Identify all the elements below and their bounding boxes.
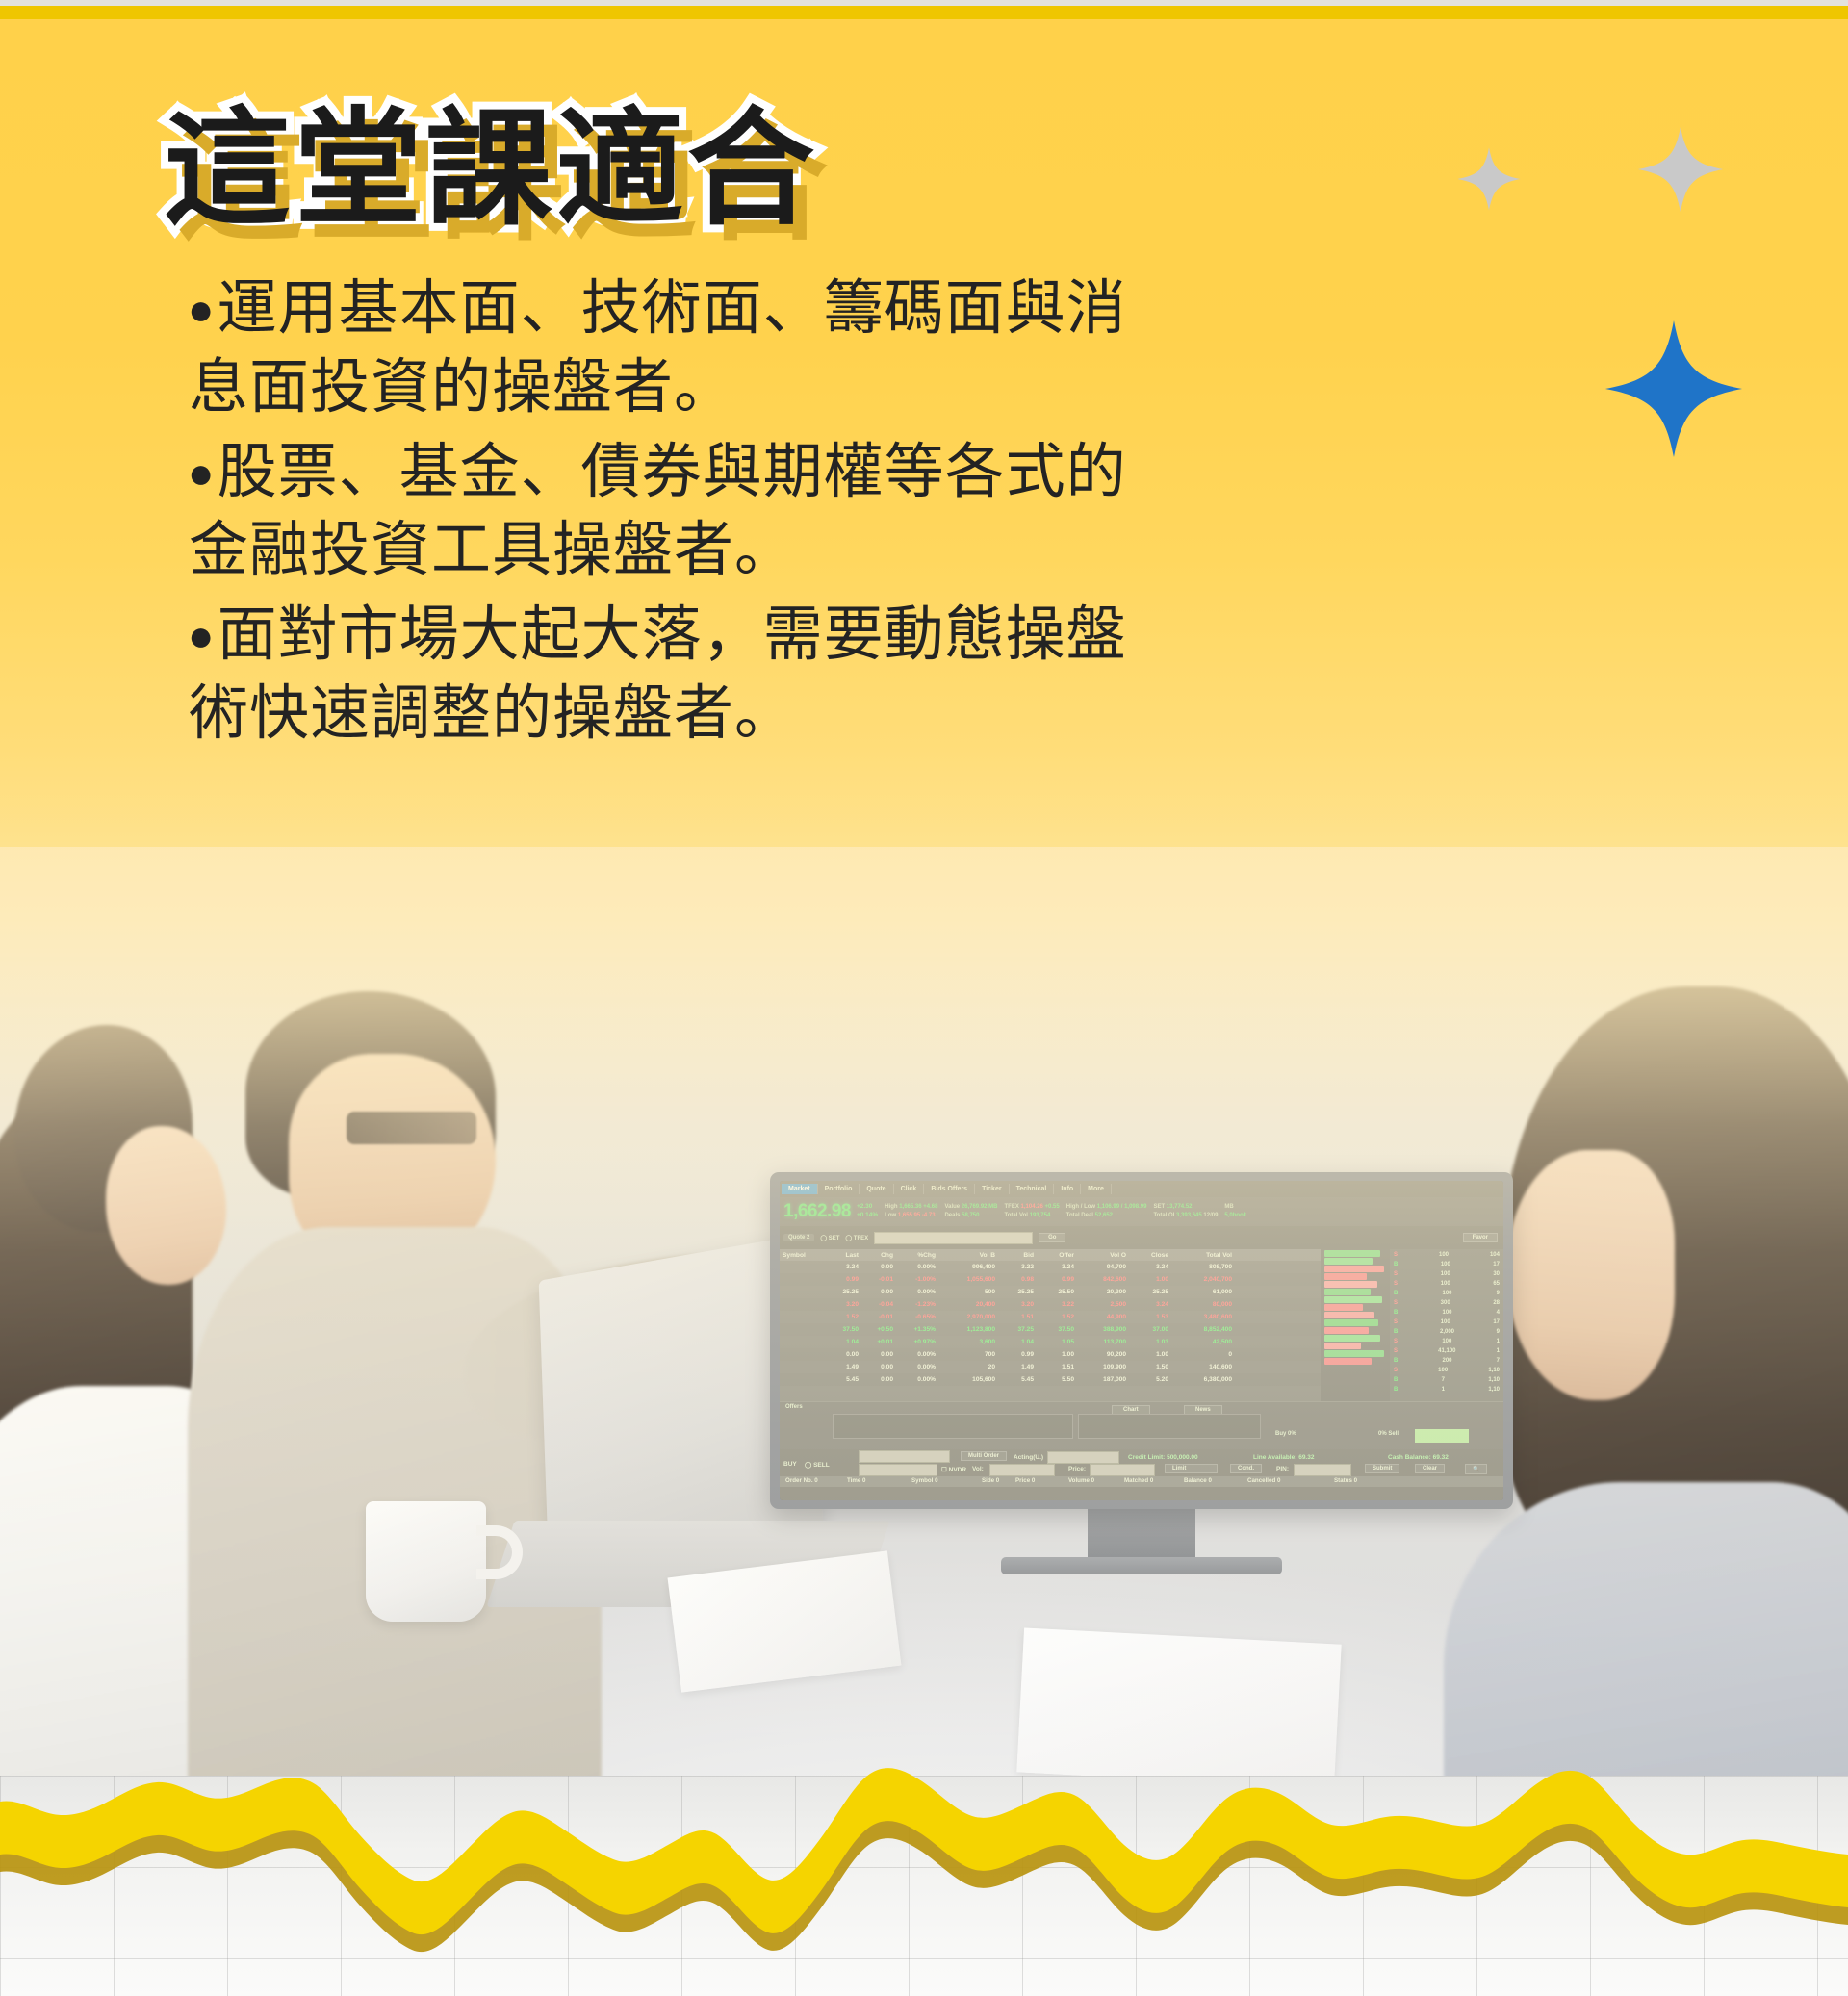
- list-item[interactable]: B71,10: [1390, 1375, 1503, 1385]
- person-right-face: [1506, 1150, 1675, 1400]
- cell-chg: 0.00: [862, 1364, 897, 1370]
- buy-label[interactable]: BUY: [783, 1461, 797, 1468]
- star-gray-small-icon: [1456, 146, 1522, 212]
- list-item[interactable]: S1001,10: [1390, 1366, 1503, 1375]
- list-item[interactable]: S10065: [1390, 1279, 1503, 1289]
- cell-offer: 5.50: [1038, 1376, 1078, 1383]
- cell-vol-offer: 187,000: [1078, 1376, 1130, 1383]
- list-item[interactable]: S41,1001: [1390, 1346, 1503, 1356]
- cell-last: 1.49: [824, 1364, 862, 1370]
- clear-button[interactable]: Clear: [1415, 1464, 1445, 1473]
- pin-label: PIN:: [1276, 1466, 1289, 1472]
- cell-close: 3.24: [1130, 1264, 1172, 1270]
- order-side: B: [1394, 1329, 1398, 1335]
- cell-vol-bid: 20,400: [939, 1301, 999, 1308]
- order-side: B: [1394, 1387, 1398, 1393]
- col-close[interactable]: Close: [1130, 1252, 1172, 1259]
- cell-chg: +0.01: [862, 1339, 897, 1345]
- order-price: 28: [1493, 1300, 1500, 1306]
- cell-total-vol: 6,380,000: [1172, 1376, 1236, 1383]
- cell-vol-offer: 94,700: [1078, 1264, 1130, 1270]
- stat-mb: MB 5,0book: [1224, 1203, 1246, 1219]
- cell-total-vol: 2,040,700: [1172, 1276, 1236, 1283]
- list-item[interactable]: B2007: [1390, 1356, 1503, 1366]
- page-title: 這堂課適合: [164, 101, 818, 239]
- cell-offer: 1.52: [1038, 1314, 1078, 1320]
- cell-bid: 3.20: [999, 1301, 1038, 1308]
- cell-chg: 0.00: [862, 1264, 897, 1270]
- col-last[interactable]: Last: [824, 1252, 862, 1259]
- list-item[interactable]: B2,0009: [1390, 1327, 1503, 1337]
- bullet-dot-icon: ●: [188, 610, 216, 660]
- cell-total-vol: 80,000: [1172, 1301, 1236, 1308]
- sell-label[interactable]: ◯ SELL: [805, 1461, 830, 1469]
- cell-pct-chg: +0.97%: [897, 1339, 939, 1345]
- order-price: 7: [1497, 1358, 1500, 1364]
- cell-pct-chg: +1.35%: [897, 1326, 939, 1333]
- stat-set-label: SET: [1153, 1204, 1165, 1210]
- list-item[interactable]: S30028: [1390, 1298, 1503, 1308]
- table-row[interactable]: 1.490.000.00%201.491.51109,9001.50140,60…: [780, 1361, 1321, 1373]
- cell-offer: 3.24: [1038, 1264, 1078, 1270]
- col-total-vol[interactable]: Total Vol: [1172, 1252, 1236, 1259]
- cell-vol-bid: 996,400: [939, 1264, 999, 1270]
- index-change: +2.30: [857, 1203, 878, 1212]
- order-price: 9: [1497, 1329, 1500, 1335]
- trading-terminal: Market Portfolio Quote Click Bids Offers…: [780, 1181, 1503, 1500]
- cell-vol-bid: 20: [939, 1364, 999, 1370]
- order-vol: 100: [1442, 1310, 1451, 1316]
- table-row[interactable]: 25.250.000.00%50025.2525.5020,30025.2561…: [780, 1286, 1321, 1298]
- col-time[interactable]: Time 0: [847, 1477, 866, 1484]
- table-row[interactable]: 37.50+0.50+1.35%1,123,80037.2537.50388,9…: [780, 1323, 1321, 1336]
- market-depth-panel: [1321, 1249, 1390, 1401]
- cell-vol-offer: 44,900: [1078, 1314, 1130, 1320]
- tab-quote[interactable]: Quote: [860, 1184, 893, 1194]
- tab-click[interactable]: Click: [894, 1184, 925, 1194]
- order-price: 104: [1490, 1252, 1500, 1258]
- cell-vol-offer: 2,500: [1078, 1301, 1130, 1308]
- order-vol: 100: [1438, 1368, 1448, 1373]
- col-chg[interactable]: Chg: [862, 1252, 897, 1259]
- cell-chg: -0.01: [862, 1276, 897, 1283]
- cell-total-vol: 8,852,400: [1172, 1326, 1236, 1333]
- cell-close: 1.50: [1130, 1364, 1172, 1370]
- table-row[interactable]: 3.240.000.00%996,4003.223.2494,7003.2480…: [780, 1261, 1321, 1273]
- index-quote-bar: 1,662.98 +2.30 +0.14% High 1,665.36 +4.6…: [780, 1197, 1503, 1226]
- cell-vol-offer: 109,900: [1078, 1364, 1130, 1370]
- cell-last: 37.50: [824, 1326, 862, 1333]
- terminal-tab-bar: Market Portfolio Quote Click Bids Offers…: [780, 1181, 1503, 1197]
- cell-last: 0.00: [824, 1351, 862, 1358]
- cell-last: 1.52: [824, 1314, 862, 1320]
- cell-offer: 1.05: [1038, 1339, 1078, 1345]
- stat-mb-label: MB: [1224, 1204, 1233, 1210]
- list-item[interactable]: B1009: [1390, 1289, 1503, 1298]
- table-row[interactable]: 5.450.000.00%105,6005.455.50187,0005.206…: [780, 1373, 1321, 1386]
- list-item[interactable]: S10030: [1390, 1269, 1503, 1279]
- go-button[interactable]: Go: [1039, 1233, 1065, 1242]
- order-side: S: [1394, 1281, 1398, 1287]
- order-vol: 100: [1439, 1252, 1449, 1258]
- col-pct-chg[interactable]: %Chg: [897, 1252, 939, 1259]
- cell-close: 3.24: [1130, 1301, 1172, 1308]
- tab-ticker[interactable]: Ticker: [975, 1184, 1010, 1194]
- cell-vol-offer: 842,600: [1078, 1276, 1130, 1283]
- cell-pct-chg: -0.65%: [897, 1314, 939, 1320]
- order-price: 9: [1497, 1291, 1500, 1296]
- col-volume[interactable]: Volume 0: [1068, 1477, 1094, 1484]
- order-price: 1,10: [1488, 1377, 1500, 1383]
- order-side: B: [1394, 1310, 1398, 1316]
- cell-pct-chg: -1.23%: [897, 1301, 939, 1308]
- stat-value-deals: Value 26,769.92 MB Deals 58,750: [944, 1203, 997, 1219]
- cell-vol-bid: 1,055,600: [939, 1276, 999, 1283]
- cell-vol-bid: 1,123,800: [939, 1326, 999, 1333]
- bullet-dot-icon: ●: [188, 448, 216, 498]
- cell-last: 1.04: [824, 1339, 862, 1345]
- tab-market[interactable]: Market: [782, 1184, 818, 1194]
- line-available: Line Available: 69.32: [1253, 1454, 1314, 1461]
- index-change-block: +2.30 +0.14%: [857, 1203, 878, 1220]
- cell-last: 3.20: [824, 1301, 862, 1308]
- cell-close: 1.00: [1130, 1276, 1172, 1283]
- order-list-header: Order No. 0 Time 0 Symbol 0 Side 0 Price…: [780, 1476, 1503, 1487]
- order-price: 17: [1493, 1319, 1500, 1325]
- col-balance[interactable]: Balance 0: [1184, 1477, 1212, 1484]
- radio-set-label: SET: [829, 1236, 840, 1241]
- order-book-panel: S100104B10017S10030S10065B1009S30028B100…: [1390, 1249, 1503, 1401]
- order-price: 1,10: [1488, 1387, 1500, 1393]
- cell-vol-offer: 90,200: [1078, 1351, 1130, 1358]
- cell-last: 5.45: [824, 1376, 862, 1383]
- stat-totalvol-value: 193,754: [1030, 1213, 1051, 1218]
- col-vol-offer[interactable]: Vol O: [1078, 1252, 1130, 1259]
- monitor-foot: [1001, 1557, 1282, 1574]
- order-price: 4: [1497, 1310, 1500, 1316]
- quote-table: Symbol Last Chg %Chg Vol B Bid Offer Vol…: [780, 1249, 1321, 1401]
- vol-label: Vol:: [972, 1466, 984, 1472]
- cell-total-vol: 61,000: [1172, 1289, 1236, 1295]
- cell-bid: 37.25: [999, 1326, 1038, 1333]
- offers-label: Offers: [785, 1404, 803, 1410]
- order-side: S: [1394, 1368, 1398, 1373]
- quote-table-header: Symbol Last Chg %Chg Vol B Bid Offer Vol…: [780, 1249, 1321, 1261]
- cell-chg: -0.01: [862, 1314, 897, 1320]
- tab-more[interactable]: More: [1081, 1184, 1112, 1194]
- col-matched[interactable]: Matched 0: [1124, 1477, 1153, 1484]
- col-symbol[interactable]: Symbol: [780, 1252, 824, 1259]
- cell-pct-chg: 0.00%: [897, 1289, 939, 1295]
- order-vol: 7: [1442, 1377, 1445, 1383]
- sell-label-text: SELL: [813, 1462, 830, 1469]
- order-price: 1,10: [1488, 1368, 1500, 1373]
- favorites-button[interactable]: Favor: [1463, 1233, 1498, 1242]
- credit-limit: Credit Limit: 500,000.00: [1128, 1454, 1198, 1461]
- table-row[interactable]: 3.20-0.04-1.23%20,4003.203.222,5003.2480…: [780, 1298, 1321, 1311]
- order-side: S: [1394, 1339, 1398, 1344]
- stat-tfex: TFEX 1,104.26 +0.55 Total Vol 193,754: [1005, 1203, 1060, 1219]
- cell-last: 3.24: [824, 1264, 862, 1270]
- bullet-text: 面對市場大起大落，需要動態操盤術快速調整的操盤者。: [189, 601, 1127, 747]
- stat-totaldeal-label: Total Deal: [1066, 1213, 1093, 1218]
- cell-bid: 0.98: [999, 1276, 1038, 1283]
- col-order-no[interactable]: Order No. 0: [785, 1477, 818, 1484]
- acting-label: Acting(U.): [1014, 1454, 1043, 1461]
- cell-total-vol: 140,600: [1172, 1364, 1236, 1370]
- cond-button[interactable]: Cond.: [1230, 1464, 1262, 1473]
- cell-vol-offer: 388,900: [1078, 1326, 1130, 1333]
- cell-pct-chg: 0.00%: [897, 1376, 939, 1383]
- top-strip-gold: [0, 6, 1848, 19]
- stat-totalvol-label: Total Vol: [1005, 1213, 1028, 1218]
- cell-close: 25.25: [1130, 1289, 1172, 1295]
- cell-close: 37.00: [1130, 1326, 1172, 1333]
- tab-info[interactable]: Info: [1054, 1184, 1081, 1194]
- order-vol: 300: [1441, 1300, 1450, 1306]
- cell-close: 1.00: [1130, 1351, 1172, 1358]
- col-price-f[interactable]: Price 0: [1015, 1477, 1035, 1484]
- cell-last: 0.99: [824, 1276, 862, 1283]
- multi-order-button[interactable]: Multi Order: [961, 1451, 1007, 1461]
- stat-oi-label: Total OI: [1153, 1213, 1174, 1218]
- stat-high-label: High: [885, 1204, 897, 1210]
- cell-vol-bid: 105,600: [939, 1376, 999, 1383]
- list-item[interactable]: S10017: [1390, 1318, 1503, 1327]
- order-vol: 100: [1441, 1262, 1450, 1267]
- terminal-mid-panel: Offers Chart News Buy 0% 0% Sell: [780, 1401, 1503, 1449]
- cell-chg: +0.50: [862, 1326, 897, 1333]
- terminal-body: Symbol Last Chg %Chg Vol B Bid Offer Vol…: [780, 1249, 1503, 1401]
- stat-totaldeal-value: 52,652: [1095, 1213, 1113, 1218]
- cell-bid: 0.99: [999, 1351, 1038, 1358]
- order-vol: 100: [1442, 1291, 1451, 1296]
- list-item[interactable]: B1004: [1390, 1308, 1503, 1318]
- quote-selector[interactable]: Quote 2: [783, 1234, 814, 1241]
- cell-close: 5.20: [1130, 1376, 1172, 1383]
- monitor-stand: [1088, 1507, 1195, 1561]
- order-price: 65: [1493, 1281, 1500, 1287]
- cash-balance: Cash Balance: 69.32: [1388, 1454, 1449, 1461]
- radio-tfex-label: TFEX: [854, 1236, 868, 1241]
- chart-grid-background: [0, 1776, 1848, 1996]
- order-vol: 100: [1441, 1281, 1450, 1287]
- list-item[interactable]: B11,10: [1390, 1385, 1503, 1395]
- cell-pct-chg: 0.00%: [897, 1264, 939, 1270]
- col-status[interactable]: Status 0: [1334, 1477, 1357, 1484]
- cell-bid: 1.04: [999, 1339, 1038, 1345]
- cell-bid: 3.22: [999, 1264, 1038, 1270]
- search-icon[interactable]: 🔍: [1465, 1464, 1487, 1474]
- stat-hl-label: High / Low: [1066, 1204, 1095, 1210]
- col-vol-bid[interactable]: Vol B: [939, 1252, 999, 1259]
- stat-deals-label: Deals: [944, 1213, 960, 1218]
- list-item[interactable]: B10017: [1390, 1260, 1503, 1269]
- cell-bid: 1.49: [999, 1364, 1038, 1370]
- cell-chg: 0.00: [862, 1289, 897, 1295]
- list-item[interactable]: S100104: [1390, 1250, 1503, 1260]
- cell-bid: 25.25: [999, 1289, 1038, 1295]
- cell-offer: 1.51: [1038, 1364, 1078, 1370]
- list-item[interactable]: S1001: [1390, 1337, 1503, 1346]
- order-price: 30: [1493, 1271, 1500, 1277]
- symbol-search-input[interactable]: [874, 1232, 1033, 1244]
- star-blue-icon: [1603, 318, 1745, 460]
- stat-high-low: High 1,665.36 +4.68 Low 1,655.95 -4.73: [885, 1203, 937, 1219]
- stat-low-label: Low: [885, 1213, 896, 1218]
- submit-button[interactable]: Submit: [1365, 1464, 1399, 1473]
- order-vol: 100: [1441, 1319, 1450, 1325]
- cell-total-vol: 42,500: [1172, 1339, 1236, 1345]
- order-side: S: [1394, 1300, 1398, 1306]
- index-change-pct: +0.14%: [857, 1212, 878, 1220]
- order-side: B: [1394, 1358, 1398, 1364]
- cell-vol-bid: 700: [939, 1351, 999, 1358]
- bullet-text: 股票、基金、債券與期權等各式的金融投資工具操盤者。: [189, 439, 1127, 584]
- sell-pct-label: 0% Sell: [1378, 1431, 1399, 1437]
- table-row[interactable]: 1.04+0.01+0.97%3,6001.041.05113,7001.034…: [780, 1336, 1321, 1348]
- stat-high-delta: +4.68: [923, 1204, 937, 1210]
- terminal-toolbar: Quote 2 ◯ SET ◯ TFEX Go Favor: [780, 1226, 1503, 1249]
- order-side: B: [1394, 1262, 1398, 1267]
- order-vol: 100: [1442, 1339, 1451, 1344]
- tab-portfolio[interactable]: Portfolio: [818, 1184, 860, 1194]
- stat-value-value: 26,769.92 MB: [962, 1204, 998, 1210]
- glasses-icon: [346, 1112, 476, 1144]
- nvdr-checkbox[interactable]: ☐ NVDR: [941, 1466, 966, 1473]
- star-gray-large-icon: [1636, 125, 1725, 214]
- order-side: S: [1394, 1319, 1398, 1325]
- condition-select[interactable]: Limit: [1165, 1464, 1218, 1473]
- col-side[interactable]: Side 0: [982, 1477, 999, 1484]
- cell-chg: 0.00: [862, 1376, 897, 1383]
- cell-vol-bid: 500: [939, 1289, 999, 1295]
- cell-vol-bid: 2,970,000: [939, 1314, 999, 1320]
- stat-set-value: 13,774.52: [1167, 1204, 1193, 1210]
- cell-pct-chg: 0.00%: [897, 1351, 939, 1358]
- order-vol: 100: [1441, 1271, 1450, 1277]
- index-value: 1,662.98: [783, 1201, 851, 1222]
- order-price: 1: [1497, 1348, 1500, 1354]
- tab-bids-offers[interactable]: Bids Offers: [924, 1184, 975, 1194]
- bullet-dot-icon: ●: [188, 284, 216, 334]
- col-cancelled[interactable]: Cancelled 0: [1247, 1477, 1280, 1484]
- cell-total-vol: 808,700: [1172, 1264, 1236, 1270]
- col-symbol-f[interactable]: Symbol 0: [911, 1477, 938, 1484]
- order-price: 1: [1497, 1339, 1500, 1344]
- cell-offer: 37.50: [1038, 1326, 1078, 1333]
- order-side: B: [1394, 1377, 1398, 1383]
- order-side: S: [1394, 1348, 1398, 1354]
- table-row[interactable]: 0.99-0.01-1.00%1,055,6000.980.99842,6001…: [780, 1273, 1321, 1286]
- table-row[interactable]: 1.52-0.01-0.65%2,970,0001.511.5244,9001.…: [780, 1311, 1321, 1323]
- quote-table-body: 3.240.000.00%996,4003.223.2494,7003.2480…: [780, 1261, 1321, 1386]
- cell-vol-offer: 20,300: [1078, 1289, 1130, 1295]
- cell-bid: 1.51: [999, 1314, 1038, 1320]
- radio-set[interactable]: ◯ SET: [820, 1235, 839, 1241]
- order-side: S: [1394, 1271, 1398, 1277]
- col-offer[interactable]: Offer: [1038, 1252, 1078, 1259]
- stat-mb-value: 5,0book: [1224, 1213, 1246, 1218]
- cell-offer: 25.50: [1038, 1289, 1078, 1295]
- paper-document: [1016, 1627, 1341, 1788]
- poster-canvas: Market Portfolio Quote Click Bids Offers…: [0, 0, 1848, 1996]
- cell-close: 1.53: [1130, 1314, 1172, 1320]
- bullet-text: 運用基本面、技術面、籌碼面與消息面投資的操盤者。: [189, 275, 1127, 421]
- bullet-list: ●運用基本面、技術面、籌碼面與消息面投資的操盤者。 ●股票、基金、債券與期權等各…: [189, 269, 1161, 759]
- order-entry-panel: BUY ◯ SELL ☐ NVDR Multi Order Acting(U.)…: [780, 1449, 1503, 1500]
- buy-pct-label: Buy 0%: [1275, 1431, 1296, 1437]
- stat-date-value: 12/09: [1203, 1213, 1218, 1218]
- stat-low-value: 1,655.95: [898, 1213, 920, 1218]
- cell-last: 25.25: [824, 1289, 862, 1295]
- cell-pct-chg: 0.00%: [897, 1364, 939, 1370]
- stat-deals-value: 58,750: [962, 1213, 979, 1218]
- cell-offer: 3.22: [1038, 1301, 1078, 1308]
- stat-tfex-value: 1,104.26: [1021, 1204, 1043, 1210]
- cell-total-vol: 3,480,600: [1172, 1314, 1236, 1320]
- stat-low-delta: -4.73: [922, 1213, 936, 1218]
- cell-chg: -0.04: [862, 1301, 897, 1308]
- table-row[interactable]: 0.000.000.00%7000.991.0090,2001.000: [780, 1348, 1321, 1361]
- radio-tfex[interactable]: ◯ TFEX: [845, 1235, 868, 1241]
- cell-vol-offer: 113,700: [1078, 1339, 1130, 1345]
- cell-close: 1.03: [1130, 1339, 1172, 1345]
- cell-vol-bid: 3,600: [939, 1339, 999, 1345]
- coffee-mug: [366, 1501, 486, 1622]
- stat-high-value: 1,665.36: [899, 1204, 921, 1210]
- order-vol: 200: [1442, 1358, 1451, 1364]
- cell-offer: 1.00: [1038, 1351, 1078, 1358]
- stat-hl-value: 1,106.99 / 1,098.99: [1097, 1204, 1147, 1210]
- list-item: ●面對市場大起大落，需要動態操盤術快速調整的操盤者。: [189, 596, 1161, 754]
- list-item: ●股票、基金、債券與期權等各式的金融投資工具操盤者。: [189, 433, 1161, 591]
- cell-offer: 0.99: [1038, 1276, 1078, 1283]
- stat-oi-value: 3,393,645: [1176, 1213, 1202, 1218]
- order-vol: 2,000: [1440, 1329, 1454, 1335]
- order-vol: 41,100: [1438, 1348, 1455, 1354]
- col-bid[interactable]: Bid: [999, 1252, 1038, 1259]
- order-side: B: [1394, 1291, 1398, 1296]
- nvdr-label: NVDR: [949, 1467, 966, 1473]
- cell-total-vol: 0: [1172, 1351, 1236, 1358]
- tab-technical[interactable]: Technical: [1010, 1184, 1055, 1194]
- stat-highlow-pair: High / Low 1,106.99 / 1,098.99 Total Dea…: [1066, 1203, 1147, 1219]
- order-price: 17: [1493, 1262, 1500, 1267]
- trading-monitor: Market Portfolio Quote Click Bids Offers…: [770, 1172, 1513, 1509]
- stat-value-label: Value: [944, 1204, 960, 1210]
- order-vol: 1: [1442, 1387, 1445, 1393]
- cell-chg: 0.00: [862, 1351, 897, 1358]
- price-label: Price:: [1068, 1466, 1086, 1472]
- stat-tfex-label: TFEX: [1005, 1204, 1019, 1210]
- stat-set: SET 13,774.52 Total OI 3,393,645 12/09: [1153, 1203, 1218, 1219]
- cell-bid: 5.45: [999, 1376, 1038, 1383]
- list-item: ●運用基本面、技術面、籌碼面與消息面投資的操盤者。: [189, 269, 1161, 427]
- order-side: S: [1394, 1252, 1398, 1258]
- cell-pct-chg: -1.00%: [897, 1276, 939, 1283]
- stat-tfex-delta: +0.55: [1045, 1204, 1060, 1210]
